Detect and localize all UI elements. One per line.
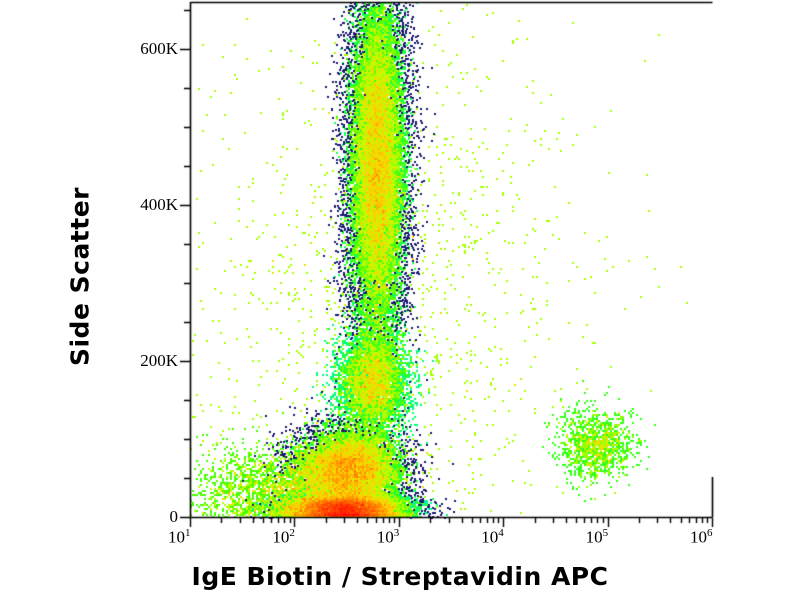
x-tick-label: 106	[690, 527, 713, 548]
x-tick-label: 102	[272, 527, 295, 548]
x-tick-label: 104	[481, 527, 504, 548]
y-tick-label: 600K	[118, 39, 178, 59]
x-tick-label: 103	[377, 527, 400, 548]
x-axis-title: IgE Biotin / Streptavidin APC	[0, 562, 800, 591]
y-tick-label: 400K	[118, 195, 178, 215]
y-axis-title: Side Scatter	[66, 47, 95, 507]
x-tick-label: 105	[586, 527, 609, 548]
y-tick-label: 200K	[118, 351, 178, 371]
flow-cytometry-figure: IgE Biotin / Streptavidin APC Side Scatt…	[0, 0, 800, 600]
x-tick-label: 101	[168, 527, 191, 548]
y-tick-label: 0	[118, 507, 178, 527]
